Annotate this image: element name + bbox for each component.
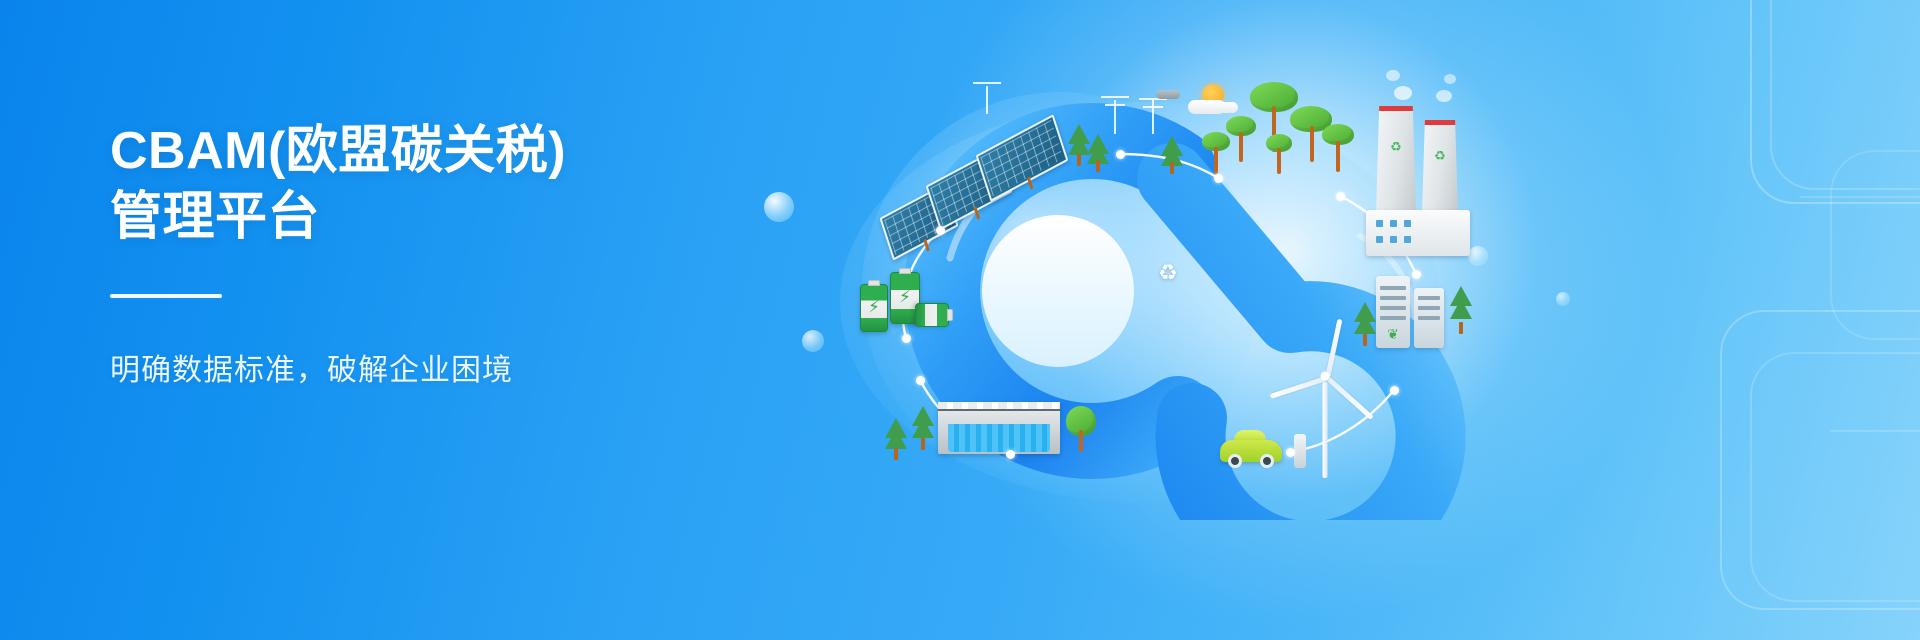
page-title-line-2: 管理平台 bbox=[110, 184, 810, 250]
connector-node bbox=[1336, 192, 1345, 201]
decor-rounded-rect bbox=[1750, 0, 1920, 204]
decor-line bbox=[1830, 430, 1920, 432]
smoke-puff bbox=[1386, 70, 1400, 81]
smoke-puff bbox=[1436, 90, 1452, 102]
cooling-tower: ♻ bbox=[1376, 106, 1416, 214]
bolt-icon: ⚡ bbox=[868, 299, 880, 316]
cloud-icon bbox=[1156, 90, 1180, 99]
decor-rounded-rect bbox=[1750, 352, 1920, 602]
dam-water bbox=[948, 424, 1050, 452]
broadleaf-tree bbox=[1200, 132, 1232, 176]
connector-node bbox=[1390, 386, 1399, 395]
connector-node bbox=[902, 334, 911, 343]
transmission-pylon bbox=[1100, 94, 1130, 134]
smoke-puff bbox=[1444, 74, 1456, 84]
broadleaf-tree bbox=[1264, 134, 1294, 176]
cbam-hero-banner: CBAM(欧盟碳关税) 管理平台 明确数据标准，破解企业困境 bbox=[0, 0, 1920, 640]
connector-node bbox=[936, 226, 945, 235]
decor-line bbox=[1800, 196, 1920, 198]
cloud-icon bbox=[1216, 102, 1238, 113]
recycle-icon: ♻ bbox=[1390, 139, 1402, 155]
battery-cell: ⚡ bbox=[860, 284, 888, 332]
broadleaf-tree bbox=[1064, 406, 1098, 454]
connector-node bbox=[1116, 150, 1125, 159]
connector-node bbox=[1214, 174, 1223, 183]
hero-text-block: CBAM(欧盟碳关税) 管理平台 明确数据标准，破解企业困境 bbox=[110, 118, 810, 392]
transmission-pylon bbox=[970, 80, 1004, 114]
electric-car bbox=[1220, 426, 1290, 468]
broadleaf-tree bbox=[1320, 124, 1356, 174]
pine-tree bbox=[884, 418, 908, 460]
connector-node bbox=[916, 376, 925, 385]
battery-cell bbox=[915, 303, 949, 327]
server-rack bbox=[1414, 288, 1444, 348]
pine-tree bbox=[1086, 134, 1110, 172]
hydro-dam bbox=[938, 402, 1060, 454]
decor-rounded-rect bbox=[1830, 150, 1920, 340]
bolt-icon: ⚡ bbox=[899, 289, 911, 306]
hero-subtitle: 明确数据标准，破解企业困境 bbox=[110, 350, 810, 392]
connector-node bbox=[1412, 270, 1421, 279]
leaf-icon: ❦ bbox=[1387, 326, 1399, 343]
page-title-line-1: CBAM(欧盟碳关税) bbox=[110, 118, 810, 184]
transmission-pylon bbox=[1138, 96, 1168, 134]
pine-tree bbox=[1354, 302, 1376, 346]
recycle-icon: ♻ bbox=[1158, 262, 1178, 284]
wind-turbine bbox=[1290, 318, 1360, 478]
pine-tree bbox=[1448, 286, 1474, 334]
factory bbox=[1366, 210, 1470, 256]
server-rack: ❦ bbox=[1376, 276, 1410, 348]
title-divider bbox=[110, 294, 222, 298]
pine-tree bbox=[912, 406, 934, 450]
smoke-puff bbox=[1394, 86, 1412, 100]
decor-rounded-rect bbox=[1720, 310, 1920, 610]
decor-rounded-rect bbox=[1770, 0, 1920, 190]
cooling-tower: ♻ bbox=[1422, 120, 1458, 214]
connector-node bbox=[1286, 448, 1295, 457]
pine-tree bbox=[1160, 136, 1184, 174]
hero-illustration: ⚡ ⚡ bbox=[820, 50, 1620, 520]
connector-node bbox=[1006, 450, 1015, 459]
recycle-icon: ♻ bbox=[1434, 148, 1446, 164]
